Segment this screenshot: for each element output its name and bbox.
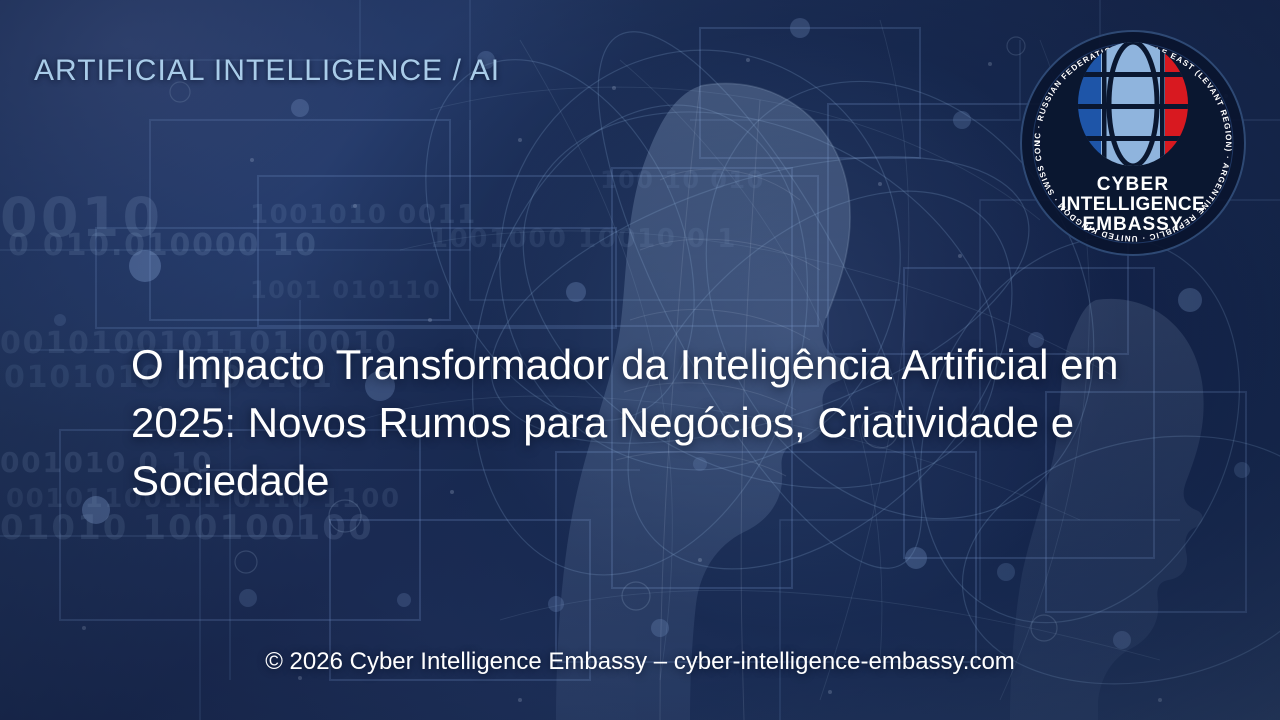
category-label: ARTIFICIAL INTELLIGENCE / AI <box>34 54 500 88</box>
ai-article-banner: 00100 010.010000 100010100101101 0010010… <box>0 0 1280 720</box>
emblem-title-line2: INTELLIGENCE <box>1061 194 1205 215</box>
emblem-title-line1: CYBER <box>1097 174 1170 195</box>
page-title: O Impacto Transformador da Inteligência … <box>131 336 1141 510</box>
emblem-title-line3: EMBASSY <box>1083 214 1184 235</box>
cyber-intelligence-embassy-logo[interactable]: UNITED STATES OF AMERICA · EUROPEAN UNIO… <box>1018 28 1248 258</box>
copyright-footer: © 2026 Cyber Intelligence Embassy – cybe… <box>0 648 1280 676</box>
